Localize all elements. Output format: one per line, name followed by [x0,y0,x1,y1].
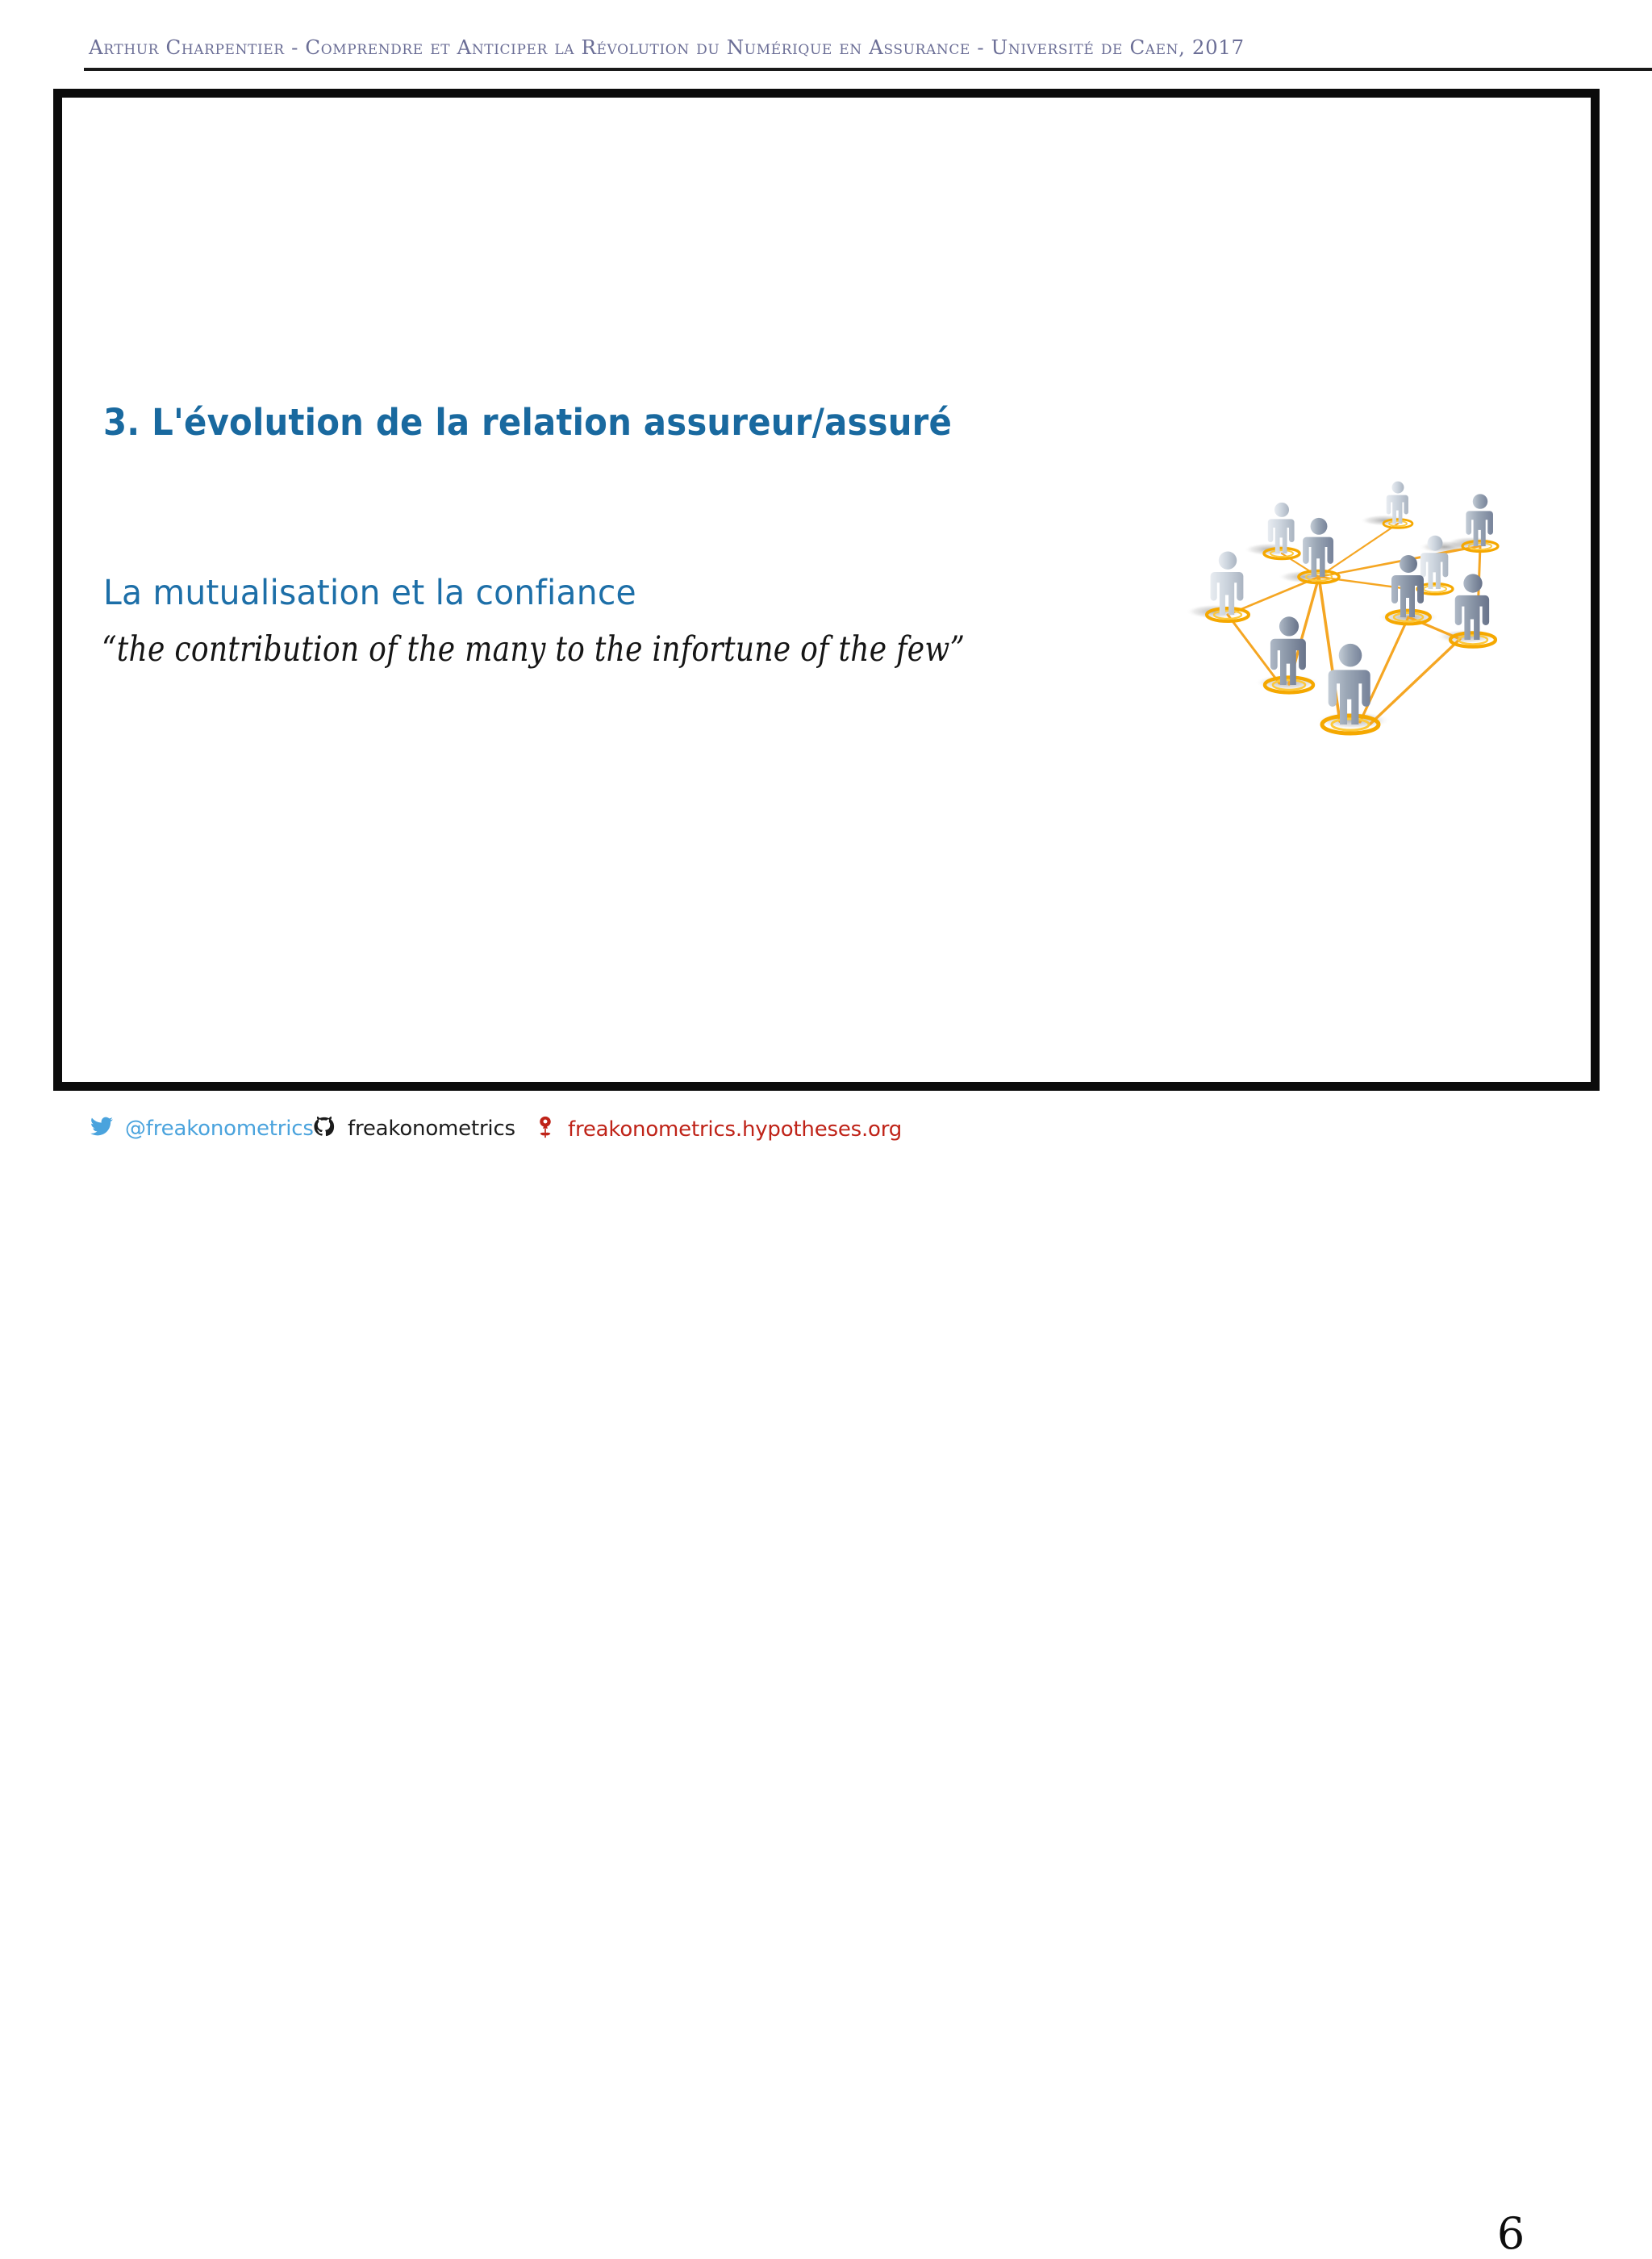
page-number: 6 [1483,2212,1539,2256]
footer-label-twitter: @freakonometrics [125,1117,314,1141]
footer-label-hypotheses: freakonometrics.hypotheses.org [568,1117,902,1142]
hypotheses-icon [533,1115,557,1143]
running-title: Arthur Charpentier - Comprendre et Antic… [89,35,1245,59]
footer-link-github[interactable]: freakonometrics [311,1115,515,1142]
github-icon [311,1115,337,1142]
slide-running-header: Arthur Charpentier - Comprendre et Antic… [0,0,1652,74]
slide-quotation: “the contribution of the many to the inf… [102,629,965,670]
network-figures [1211,482,1493,724]
twitter-icon [89,1115,115,1142]
slide-footer: @freakonometrics freakonometrics freakon… [0,1105,1652,1168]
slide-subtitle: La mutualisation et la confiance [103,573,636,613]
header-divider-rule [84,68,1652,71]
section-heading: 3. L'évolution de la relation assureur/a… [103,401,952,444]
footer-link-twitter[interactable]: @freakonometrics [89,1115,314,1142]
footer-label-github: freakonometrics [348,1117,515,1141]
social-network-illustration [1166,456,1546,762]
footer-link-hypotheses[interactable]: freakonometrics.hypotheses.org [533,1115,902,1143]
